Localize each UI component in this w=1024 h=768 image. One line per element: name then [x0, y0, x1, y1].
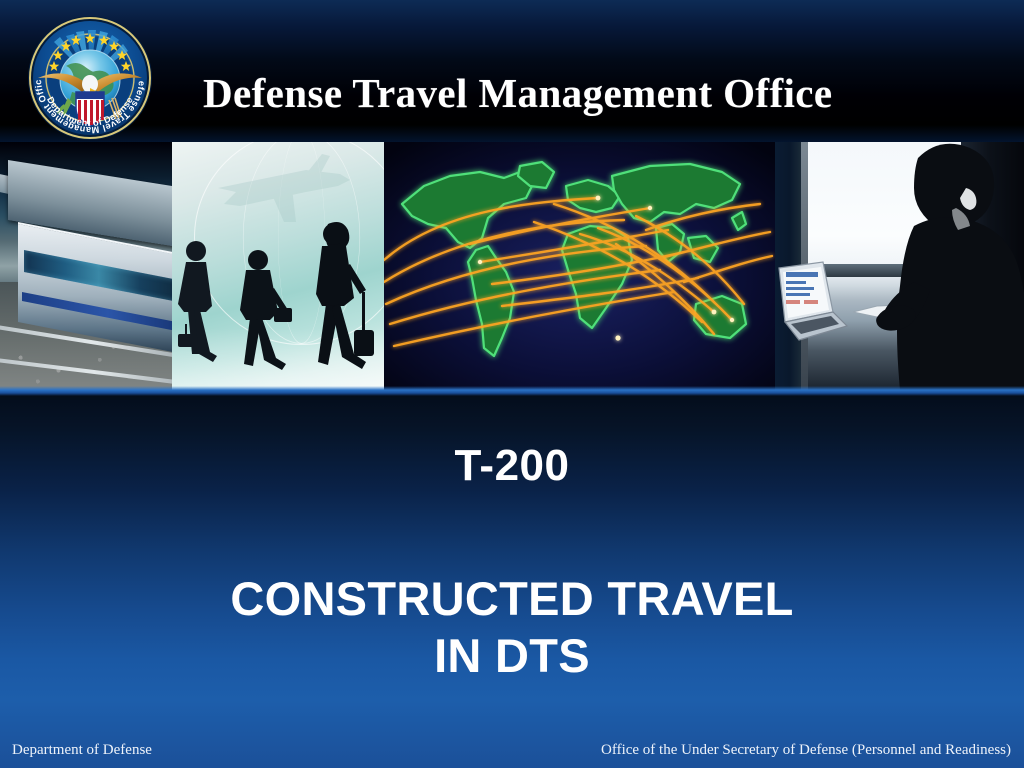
band-divider-glow — [0, 386, 1024, 396]
photo-band — [0, 142, 1024, 390]
laptop-icon — [777, 260, 849, 352]
traveler-silhouette-1 — [176, 238, 222, 380]
course-title: CONSTRUCTED TRAVEL IN DTS — [0, 570, 1024, 685]
business-travelers-photo — [172, 142, 384, 390]
dtmo-seal-icon: Defense Travel Management Office Departm… — [20, 14, 160, 142]
traveler-silhouette-3 — [298, 218, 376, 380]
world-map-routes-photo — [384, 142, 775, 390]
course-code: T-200 — [0, 444, 1024, 488]
course-title-line-1: CONSTRUCTED TRAVEL — [0, 570, 1024, 627]
footer-department: Department of Defense — [12, 742, 152, 759]
footer-office: Office of the Under Secretary of Defense… — [601, 742, 1011, 759]
train-station-photo — [0, 142, 172, 390]
presentation-slide: Defense Travel Management Office — [0, 0, 1024, 768]
slide-footer: Department of Defense Office of the Unde… — [0, 722, 1024, 768]
organization-title: Defense Travel Management Office — [203, 69, 833, 117]
course-title-line-2: IN DTS — [0, 627, 1024, 684]
businessman-silhouette — [870, 142, 1024, 390]
traveler-laptop-photo — [775, 142, 1024, 390]
slide-body: T-200 CONSTRUCTED TRAVEL IN DTS — [0, 396, 1024, 716]
world-map-graphic — [384, 142, 775, 390]
traveler-silhouette-2 — [228, 248, 294, 380]
